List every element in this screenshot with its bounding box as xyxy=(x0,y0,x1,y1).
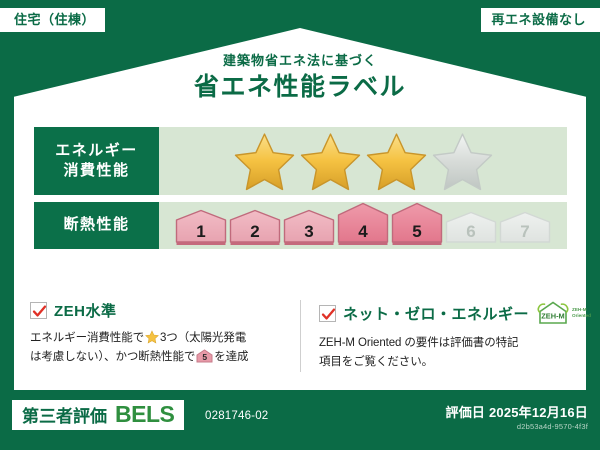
inline-house-level: 5 xyxy=(196,353,213,362)
star-empty-icon xyxy=(431,131,494,191)
note-zeh-body-part1: エネルギー消費性能で xyxy=(30,332,144,344)
insulation-level-number: 7 xyxy=(499,223,551,240)
rating-label-insulation: 断熱性能 xyxy=(34,202,159,249)
zeh-m-house-icon: ZEH-M xyxy=(536,300,570,326)
note-nze-header: ネット・ゼロ・エネルギー ZEH-M ZEH-M Oriented xyxy=(319,300,558,326)
ratings-section: エネルギー 消費性能 断熱性能 1234567 xyxy=(34,127,567,256)
star-rating xyxy=(233,131,494,191)
check-icon xyxy=(321,307,336,322)
insulation-level-3: 3 xyxy=(283,209,335,246)
bels-wordmark: BELS xyxy=(115,403,174,426)
zeh-m-caption-line2: Oriented xyxy=(572,313,591,318)
insulation-level-6: 6 xyxy=(445,211,497,246)
title-block: 建築物省エネ法に基づく 省エネ性能ラベル xyxy=(0,54,600,102)
evaluation-date-value: 2025年12月16日 xyxy=(489,405,588,420)
note-nze-body-line2: 項目をご覧ください。 xyxy=(319,356,433,368)
star-filled-icon xyxy=(233,131,296,191)
rating-label-energy-line1: エネルギー xyxy=(55,141,138,161)
zeh-m-oriented-logo: ZEH-M ZEH-M Oriented xyxy=(536,300,591,326)
insulation-level-5: 5 xyxy=(391,202,443,246)
rating-label-energy-line2: 消費性能 xyxy=(63,161,129,181)
inline-house-badge: 5 xyxy=(196,349,213,363)
page-title: 省エネ性能ラベル xyxy=(0,74,600,102)
insulation-level-number: 6 xyxy=(445,223,497,240)
note-net-zero-energy: ネット・ゼロ・エネルギー ZEH-M ZEH-M Oriented ZEH-M … xyxy=(300,300,570,372)
note-zeh-body-part2: は考慮しない）、かつ断熱性能で xyxy=(30,351,195,363)
zeh-checkbox[interactable] xyxy=(30,302,47,319)
insulation-level-number: 3 xyxy=(283,223,335,240)
bels-plate: 第三者評価 BELS xyxy=(12,400,184,430)
note-zeh-standard: ZEH水準 エネルギー消費性能で3つ（太陽光発電は考慮しない）、かつ断熱性能で5… xyxy=(30,300,300,372)
insulation-level-number: 4 xyxy=(337,223,389,240)
certificate-number: 0281746-02 xyxy=(205,410,268,422)
title-subtitle: 建築物省エネ法に基づく xyxy=(0,54,600,68)
note-nze-body: ZEH-M Oriented の要件は評価書の特記 項目をご覧ください。 xyxy=(319,334,558,372)
document-hash: d2b53a4d-9570-4f3f xyxy=(517,422,588,431)
insulation-level-4: 4 xyxy=(337,202,389,246)
badge-renewable-energy: 再エネ設備なし xyxy=(481,8,600,32)
insulation-level-number: 2 xyxy=(229,223,281,240)
insulation-level-7: 7 xyxy=(499,211,551,246)
notes-section: ZEH水準 エネルギー消費性能で3つ（太陽光発電は考慮しない）、かつ断熱性能で5… xyxy=(30,300,570,372)
badge-building-type: 住宅（住棟） xyxy=(0,8,105,32)
note-zeh-title: ZEH水準 xyxy=(54,300,117,321)
note-nze-title: ネット・ゼロ・エネルギー xyxy=(343,303,529,324)
net-zero-checkbox[interactable] xyxy=(319,305,336,322)
evaluation-date: 評価日 2025年12月16日 xyxy=(446,402,588,421)
check-icon xyxy=(32,304,47,319)
insulation-level-2: 2 xyxy=(229,209,281,246)
third-party-eval-label: 第三者評価 xyxy=(22,408,107,425)
rating-label-insulation-line1: 断熱性能 xyxy=(63,215,129,235)
note-zeh-body: エネルギー消費性能で3つ（太陽光発電は考慮しない）、かつ断熱性能で5を達成 xyxy=(30,329,288,367)
insulation-level-number: 1 xyxy=(175,223,227,240)
insulation-level-scale: 1234567 xyxy=(175,202,551,249)
star-filled-icon xyxy=(365,131,428,191)
inline-star-icon xyxy=(145,330,159,344)
rating-row-insulation: 断熱性能 1234567 xyxy=(34,202,567,249)
note-nze-body-line1: ZEH-M Oriented の要件は評価書の特記 xyxy=(319,337,518,349)
rating-row-energy: エネルギー 消費性能 xyxy=(34,127,567,195)
evaluation-date-label: 評価日 xyxy=(446,405,486,420)
note-zeh-body-stars: 3つ（太陽光発電 xyxy=(160,332,246,344)
insulation-level-1: 1 xyxy=(175,209,227,246)
star-filled-icon xyxy=(299,131,362,191)
zeh-m-logo-caption: ZEH-M Oriented xyxy=(572,307,591,318)
rating-label-energy: エネルギー 消費性能 xyxy=(34,127,159,195)
zeh-m-caption-line1: ZEH-M xyxy=(572,307,587,312)
note-zeh-header: ZEH水準 xyxy=(30,300,288,321)
note-zeh-body-part3: を達成 xyxy=(214,351,248,363)
energy-performance-label: 住宅（住棟） 再エネ設備なし 建築物省エネ法に基づく 省エネ性能ラベル エネルギ… xyxy=(0,0,600,450)
insulation-level-number: 5 xyxy=(391,223,443,240)
rating-value-energy xyxy=(159,127,567,195)
svg-text:ZEH-M: ZEH-M xyxy=(541,312,564,321)
footer-bar: 第三者評価 BELS 0281746-02 評価日 2025年12月16日 d2… xyxy=(0,392,600,450)
rating-value-insulation: 1234567 xyxy=(159,202,567,249)
